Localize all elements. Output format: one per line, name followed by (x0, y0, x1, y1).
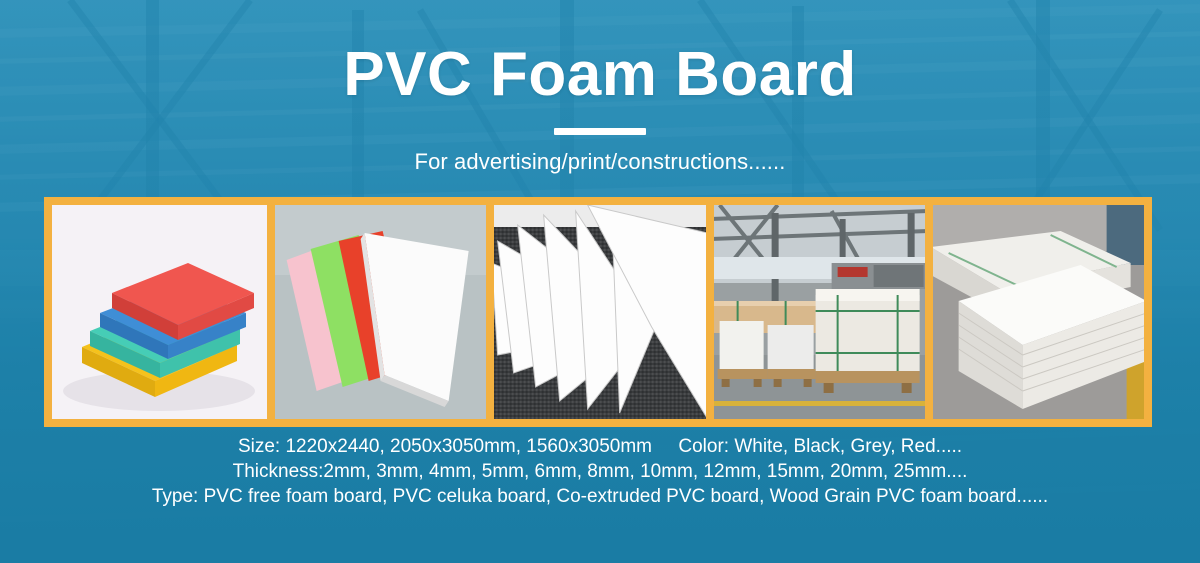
product-image-gallery (44, 197, 1152, 427)
gallery-image-colored-foam-sheets-fan (275, 205, 486, 419)
gallery-image-warehouse-pallets (714, 205, 925, 419)
specification-text-block: Size: 1220x2440, 2050x3050mm, 1560x3050m… (0, 434, 1200, 509)
gallery-image-white-board-stacks (933, 205, 1144, 419)
page-subtitle: For advertising/print/constructions.....… (0, 149, 1200, 175)
spec-line-thickness: Thickness:2mm, 3mm, 4mm, 5mm, 6mm, 8mm, … (0, 459, 1200, 484)
product-banner: PVC Foam Board For advertising/print/con… (0, 0, 1200, 563)
banner-header: PVC Foam Board For advertising/print/con… (0, 42, 1200, 175)
spec-line-size-color: Size: 1220x2440, 2050x3050mm, 1560x3050m… (0, 434, 1200, 459)
gallery-image-white-foam-sheets-fan (494, 205, 705, 419)
page-title: PVC Foam Board (0, 42, 1200, 107)
title-underline-rule (554, 128, 646, 135)
gallery-image-colored-foam-boards-stack (52, 205, 267, 419)
spec-line-type: Type: PVC free foam board, PVC celuka bo… (0, 484, 1200, 509)
